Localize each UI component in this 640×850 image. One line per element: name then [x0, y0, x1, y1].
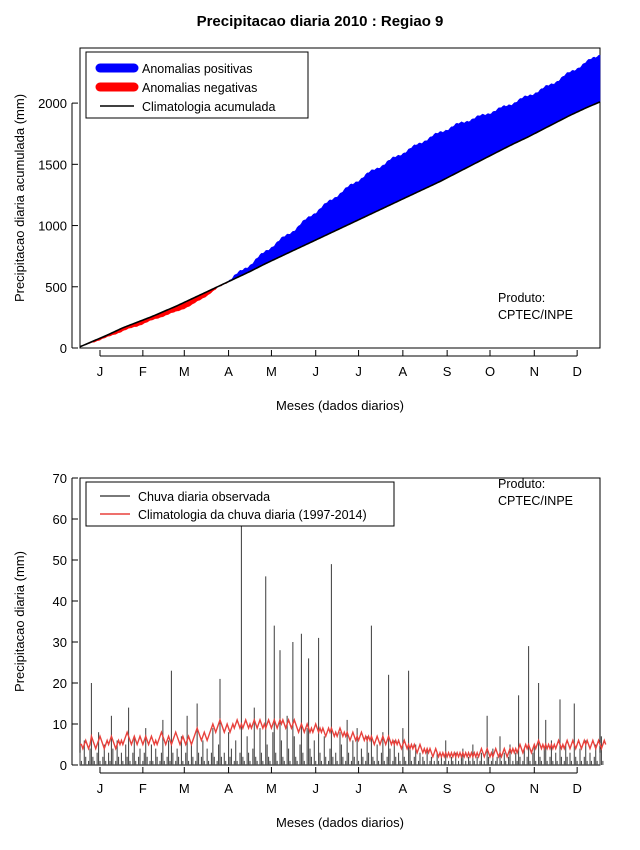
legend-label: Anomalias negativas: [142, 81, 257, 95]
y-axis-tick-label: 20: [53, 676, 67, 691]
x-axis-tick-label: M: [266, 364, 277, 379]
y-axis-tick-label: 0: [60, 758, 67, 773]
x-axis-tick-label: D: [572, 364, 581, 379]
x-axis-tick-label: S: [443, 781, 452, 796]
x-axis-tick-label: A: [224, 781, 233, 796]
x-axis-tick-label: A: [399, 781, 408, 796]
climatology-daily-line: [80, 720, 606, 757]
x-axis-tick-label: O: [485, 781, 495, 796]
x-axis-tick-label: J: [312, 781, 319, 796]
produto-annotation: CPTEC/INPE: [498, 308, 573, 322]
y-axis-tick-label: 40: [53, 594, 67, 609]
produto-annotation: Produto:: [498, 291, 545, 305]
x-axis-tick-label: A: [224, 364, 233, 379]
legend-label: Chuva diaria observada: [138, 490, 270, 504]
x-axis-title: Meses (dados diarios): [276, 815, 404, 830]
x-axis-tick-label: D: [572, 781, 581, 796]
produto-annotation: Produto:: [498, 477, 545, 491]
y-axis-tick-label: 0: [60, 341, 67, 356]
legend-label: Climatologia acumulada: [142, 100, 275, 114]
x-axis-tick-label: M: [266, 781, 277, 796]
x-axis-tick-label: M: [179, 364, 190, 379]
x-axis-title: Meses (dados diarios): [276, 398, 404, 413]
legend-label: Anomalias positivas: [142, 62, 252, 76]
x-axis-tick-label: N: [530, 781, 539, 796]
x-axis-tick-label: J: [97, 781, 104, 796]
legend-label: Climatologia da chuva diaria (1997-2014): [138, 508, 367, 522]
x-axis-tick-label: J: [355, 364, 362, 379]
y-axis-tick-label: 1500: [38, 157, 67, 172]
x-axis-tick-label: M: [179, 781, 190, 796]
page-title: Precipitacao diaria 2010 : Regiao 9: [197, 13, 444, 30]
accumulated-precipitation-chart: Precipitacao diaria 2010 : Regiao 905001…: [0, 0, 640, 430]
y-axis-tick-label: 30: [53, 635, 67, 650]
daily-precipitation-chart: 010203040506070Precipitacao diaria (mm)J…: [0, 430, 640, 850]
x-axis-tick-label: S: [443, 364, 452, 379]
y-axis-tick-label: 1000: [38, 219, 67, 234]
x-axis-tick-label: A: [399, 364, 408, 379]
y-axis-title: Precipitacao diaria (mm): [12, 551, 27, 692]
chart-page: Precipitacao diaria 2010 : Regiao 905001…: [0, 0, 640, 850]
y-axis-tick-label: 10: [53, 717, 67, 732]
y-axis-tick-label: 70: [53, 471, 67, 486]
produto-annotation: CPTEC/INPE: [498, 494, 573, 508]
y-axis-tick-label: 60: [53, 512, 67, 527]
x-axis-tick-label: F: [139, 781, 147, 796]
x-axis-tick-label: J: [312, 364, 319, 379]
x-axis-tick-label: F: [139, 364, 147, 379]
y-axis-tick-label: 50: [53, 553, 67, 568]
y-axis-tick-label: 500: [45, 280, 67, 295]
x-axis-tick-label: J: [97, 364, 104, 379]
x-axis-tick-label: O: [485, 364, 495, 379]
y-axis-title: Precipitacao diaria acumulada (mm): [12, 94, 27, 302]
y-axis-tick-label: 2000: [38, 96, 67, 111]
observed-daily-bars: [80, 511, 603, 765]
x-axis-tick-label: J: [355, 781, 362, 796]
x-axis-tick-label: N: [530, 364, 539, 379]
